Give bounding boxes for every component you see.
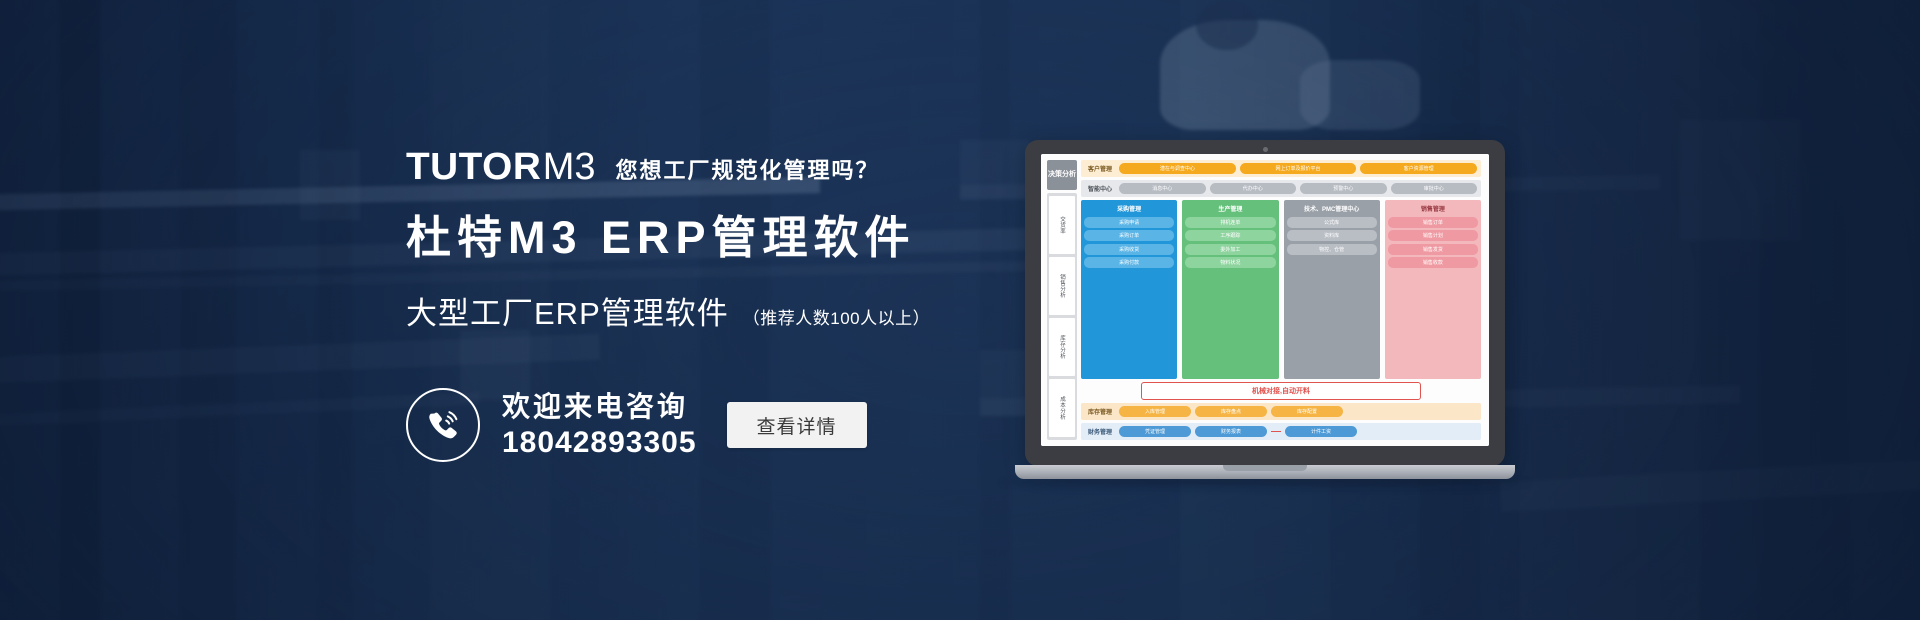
analysis-item: 库存分析 (1049, 318, 1075, 376)
card-item: 物料状况 (1185, 257, 1275, 268)
card-item: 资料库 (1287, 230, 1377, 241)
row-item: 凭证管理 (1119, 426, 1191, 437)
laptop-mockup: 决策分析 交货率 销售分析 库存分析 成本分析 (1015, 140, 1515, 490)
card-item: 销售收款 (1388, 257, 1478, 268)
laptop-lid: 决策分析 交货率 销售分析 库存分析 成本分析 (1025, 140, 1505, 466)
card-title: 销售管理 (1388, 203, 1478, 214)
laptop-notch (1223, 465, 1307, 471)
row-item: 潜在与调查中心 (1119, 163, 1236, 174)
row-title: 客户管理 (1085, 164, 1115, 173)
row-item: 消息中心 (1119, 183, 1206, 194)
hero-copy: TUTOR M3 您想工厂规范化管理吗？ 杜特M3 ERP管理软件 大型工厂ER… (406, 148, 1046, 333)
analysis-column: 交货率 销售分析 库存分析 成本分析 (1047, 193, 1077, 440)
row-title: 财务管理 (1085, 427, 1115, 436)
decision-analysis-box: 决策分析 (1047, 160, 1077, 190)
card-item: 采购申请 (1084, 217, 1174, 228)
phone-ring-icon (406, 388, 480, 462)
card-item: 销售订单 (1388, 217, 1478, 228)
row-item: 审批中心 (1391, 183, 1478, 194)
logo-tutor: TUTOR (406, 148, 541, 186)
diagram-module-cards: 采购管理 采购申请 采购订单 采购收货 采购付款 生产管理 排机连单 (1081, 200, 1481, 379)
analysis-item: 销售分析 (1049, 257, 1075, 315)
arrow-icon (1271, 431, 1281, 432)
tech-pmc-card: 技术、PMC管理中心 公式库 资料库 物控、仓管 (1284, 200, 1380, 379)
inventory-management-row: 库存管理 入库管理 库存盘点 库存配置 (1081, 403, 1481, 420)
card-item: 销售发货 (1388, 244, 1478, 255)
card-item: 采购订单 (1084, 230, 1174, 241)
contact-row: 欢迎来电咨询 18042893305 查看详情 (406, 388, 867, 462)
diagram-body: 客户管理 潜在与调查中心 网上订单及报价平台 客户资源管理 智能中心 消息中心 … (1081, 160, 1481, 440)
row-item: 网上订单及报价平台 (1240, 163, 1357, 174)
view-details-button[interactable]: 查看详情 (727, 402, 867, 448)
production-management-card: 生产管理 排机连单 工序跟踪 委外加工 物料状况 (1182, 200, 1278, 379)
laptop-screen: 决策分析 交货率 销售分析 库存分析 成本分析 (1041, 154, 1489, 446)
contact-phone-number[interactable]: 18042893305 (502, 428, 697, 458)
laptop-shadow (1001, 479, 1529, 486)
card-item: 委外加工 (1185, 244, 1275, 255)
row-item: 计件工资 (1285, 426, 1357, 437)
purchase-management-card: 采购管理 采购申请 采购订单 采购收货 采购付款 (1081, 200, 1177, 379)
row-item: 预警中心 (1300, 183, 1387, 194)
card-title: 技术、PMC管理中心 (1287, 203, 1377, 214)
erp-architecture-diagram: 决策分析 交货率 销售分析 库存分析 成本分析 (1041, 154, 1489, 446)
card-item: 采购付款 (1084, 257, 1174, 268)
logo-m3: M3 (543, 148, 596, 186)
row-item: 客户资源管理 (1360, 163, 1477, 174)
row-item: 财务报表 (1195, 426, 1267, 437)
contact-welcome-label: 欢迎来电咨询 (502, 393, 697, 421)
card-item: 物控、仓管 (1287, 244, 1377, 255)
highlight-callout: 机械对接,自动开料 (1141, 382, 1421, 400)
row-item: 库存配置 (1271, 406, 1343, 417)
card-item: 排机连单 (1185, 217, 1275, 228)
diagram-left-rail: 决策分析 交货率 销售分析 库存分析 成本分析 (1047, 160, 1077, 440)
card-item: 工序跟踪 (1185, 230, 1275, 241)
sales-management-card: 销售管理 销售订单 销售计划 销售发货 销售收款 (1385, 200, 1481, 379)
analysis-item: 成本分析 (1049, 379, 1075, 437)
analysis-item: 交货率 (1049, 196, 1075, 254)
hero-tagline: 您想工厂规范化管理吗？ (615, 159, 879, 186)
brand-line: TUTOR M3 您想工厂规范化管理吗？ (406, 148, 1046, 186)
smart-center-row: 智能中心 消息中心 代办中心 预警中心 审批中心 (1081, 180, 1481, 197)
finance-management-row: 财务管理 凭证管理 财务报表 计件工资 (1081, 423, 1481, 440)
hero-banner: TUTOR M3 您想工厂规范化管理吗？ 杜特M3 ERP管理软件 大型工厂ER… (0, 0, 1920, 620)
subtitle-note: （推荐人数100人以上） (743, 304, 930, 329)
hero-subtitle: 大型工厂ERP管理软件 （推荐人数100人以上） (406, 288, 1046, 333)
row-item: 入库管理 (1119, 406, 1191, 417)
card-item: 销售计划 (1388, 230, 1478, 241)
card-item: 公式库 (1287, 217, 1377, 228)
decision-label-1: 决策分析 (1048, 171, 1076, 179)
webcam-icon (1263, 147, 1268, 152)
card-item: 采购收货 (1084, 244, 1174, 255)
row-title: 库存管理 (1085, 407, 1115, 416)
row-item: 库存盘点 (1195, 406, 1267, 417)
row-item: 代办中心 (1210, 183, 1297, 194)
card-title: 采购管理 (1084, 203, 1174, 214)
row-title: 智能中心 (1085, 184, 1115, 193)
customer-management-row: 客户管理 潜在与调查中心 网上订单及报价平台 客户资源管理 (1081, 160, 1481, 177)
contact-text: 欢迎来电咨询 18042893305 (502, 393, 697, 458)
page-title: 杜特M3 ERP管理软件 (406, 212, 1046, 264)
subtitle-main: 大型工厂ERP管理软件 (406, 288, 729, 333)
card-title: 生产管理 (1185, 203, 1275, 214)
